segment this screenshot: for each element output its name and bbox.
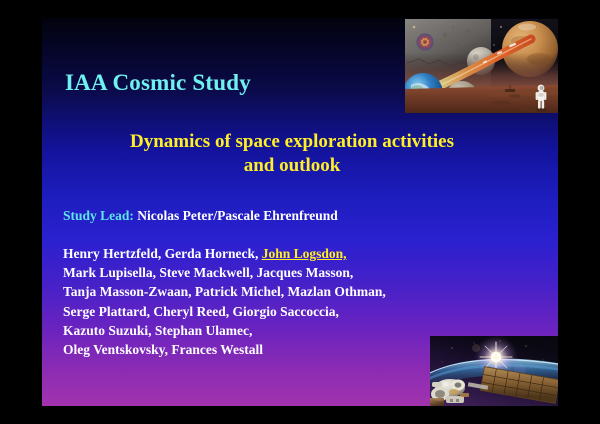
study-lead-line: Study Lead: Nicolas Peter/Pascale Ehrenf… [63,208,338,224]
subtitle-line-2: and outlook [72,154,512,178]
space-exploration-montage-image [405,19,558,113]
slide-subtitle: Dynamics of space exploration activities… [72,130,512,178]
author-line-6: Oleg Ventskovsky, Frances Westall [63,340,386,359]
subtitle-line-1: Dynamics of space exploration activities [72,130,512,154]
author-link-john-logsdon[interactable]: John Logsdon, [262,246,347,261]
author-line-2: Mark Lupisella, Steve Mackwell, Jacques … [63,263,386,282]
international-space-station-photo-image [430,336,558,406]
author-line-4: Serge Plattard, Cheryl Reed, Giorgio Sac… [63,302,386,321]
author-line-5: Kazuto Suzuki, Stephan Ulamec, [63,321,386,340]
author-line-3: Tanja Masson-Zwaan, Patrick Michel, Mazl… [63,282,386,301]
presentation-slide: IAA Cosmic Study Dynamics of space explo… [42,18,558,406]
slide-canvas: IAA Cosmic Study Dynamics of space explo… [0,0,600,424]
study-lead-label: Study Lead: [63,208,134,223]
author-line-1-text: Henry Hertzfeld, Gerda Horneck, [63,246,262,261]
page-title: IAA Cosmic Study [65,70,251,96]
study-lead-value: Nicolas Peter/Pascale Ehrenfreund [134,208,338,223]
author-list: Henry Hertzfeld, Gerda Horneck, John Log… [63,244,386,359]
author-line-1: Henry Hertzfeld, Gerda Horneck, John Log… [63,244,386,263]
